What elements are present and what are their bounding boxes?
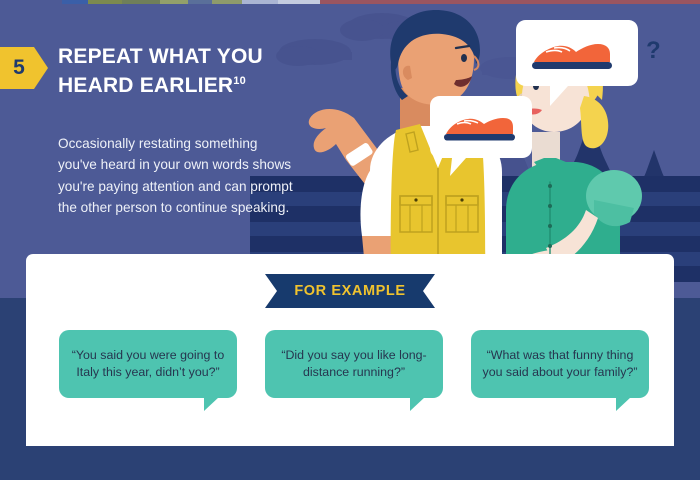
step-number-badge: 5 xyxy=(0,47,48,89)
for-example-ribbon: FOR EXAMPLE xyxy=(265,274,435,308)
quote-bubble-2: “Did you say you like long-distance runn… xyxy=(265,330,443,398)
bubble-tail-icon xyxy=(616,397,631,411)
quote-text-3: “What was that funny thing you said abou… xyxy=(471,347,649,382)
top-edge-sliver xyxy=(0,0,700,4)
example-quotes: “You said you were going to Italy this y… xyxy=(26,330,674,430)
infographic-slide: ? xyxy=(0,0,700,480)
step-description: Occasionally restating something you've … xyxy=(58,133,296,219)
headline-line-1: REPEAT WHAT YOU xyxy=(58,45,263,68)
page-title: REPEAT WHAT YOU HEARD EARLIER10 xyxy=(58,44,318,98)
quote-bubble-1: “You said you were going to Italy this y… xyxy=(59,330,237,398)
footnote-marker: 10 xyxy=(233,75,246,87)
step-number: 5 xyxy=(0,47,38,89)
quote-bubble-3: “What was that funny thing you said abou… xyxy=(471,330,649,398)
question-mark-icon: ? xyxy=(646,37,661,64)
ribbon-label: FOR EXAMPLE xyxy=(265,274,435,308)
bubble-tail-icon xyxy=(204,397,219,411)
quote-text-2: “Did you say you like long-distance runn… xyxy=(265,347,443,382)
bubble-tail-icon xyxy=(410,397,425,411)
headline-line-2: HEARD EARLIER xyxy=(58,74,233,97)
quote-text-1: “You said you were going to Italy this y… xyxy=(59,347,237,382)
